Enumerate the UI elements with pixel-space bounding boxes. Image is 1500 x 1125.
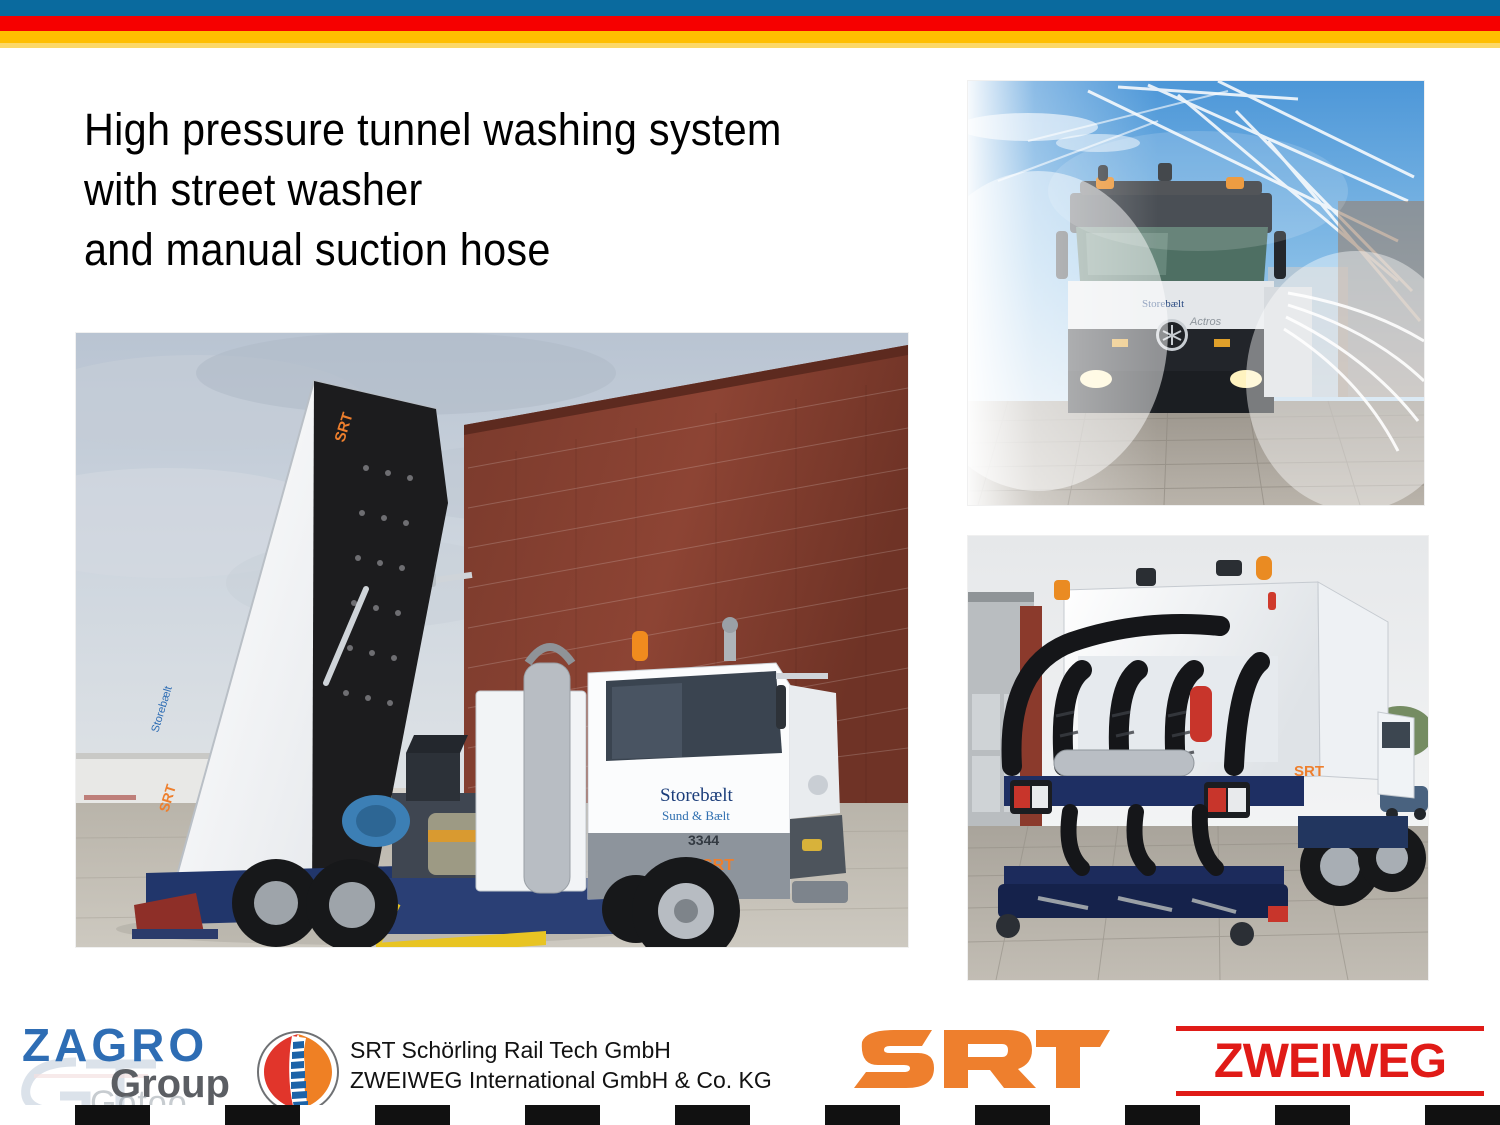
slide-canvas: High pressure tunnel washing system with… xyxy=(0,0,1500,1125)
checker-strip xyxy=(0,1105,1500,1125)
zweiweg-wordmark: ZWEIWEG xyxy=(1173,1034,1487,1090)
slide-title: High pressure tunnel washing system with… xyxy=(84,100,875,280)
stripe-yellow xyxy=(0,31,1500,43)
stripe-blue xyxy=(0,0,1500,16)
stripe-yellow-soft xyxy=(0,43,1500,48)
svg-text:Sund & Bælt: Sund & Bælt xyxy=(662,808,730,823)
zweiweg-logo: ZWEIWEG xyxy=(1176,1026,1484,1096)
zagro-logo: ZAGRO Group Gotoo xyxy=(18,1022,250,1108)
company-name-lines: SRT Schörling Rail Tech GmbH ZWEIWEG Int… xyxy=(350,1035,772,1095)
photo-topright-illustration: Storebælt Actros xyxy=(968,81,1424,505)
svg-text:3344: 3344 xyxy=(688,832,719,848)
photo-rear-view-suction-hoses: SRT xyxy=(968,536,1428,980)
photo-botright-illustration: SRT xyxy=(968,536,1428,980)
photo-main-illustration: SRT Storebælt SRT xyxy=(76,333,908,947)
svg-text:Storebælt: Storebælt xyxy=(660,785,734,806)
srt-circular-emblem-icon xyxy=(256,1030,340,1114)
srt-wordmark-logo xyxy=(848,1026,1116,1094)
stripe-red xyxy=(0,16,1500,31)
top-stripe-bar xyxy=(0,0,1500,48)
photo-main-truck-tipped-body: SRT Storebælt SRT xyxy=(76,333,908,947)
svg-text:Actros: Actros xyxy=(1189,316,1222,328)
photo-front-view-spraying: Storebælt Actros xyxy=(968,81,1424,505)
